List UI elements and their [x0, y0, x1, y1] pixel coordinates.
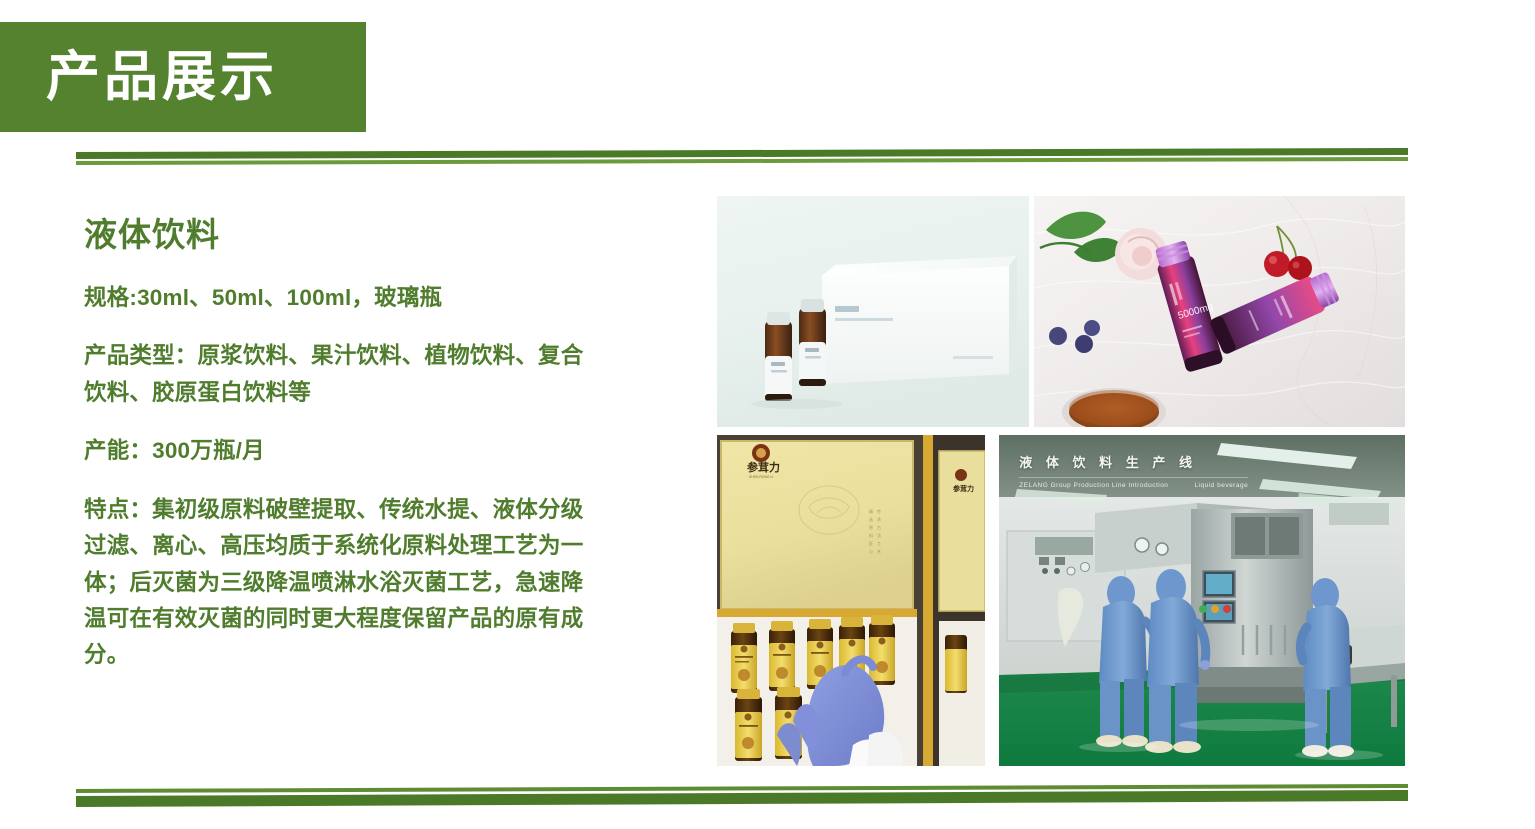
svg-text:古: 古 [877, 524, 881, 530]
photo-production-line: 液 体 饮 料 生 产 线 ZELANG Group Production Li… [999, 435, 1405, 766]
svg-text:心: 心 [869, 548, 873, 554]
svg-text:料: 料 [869, 532, 873, 538]
svg-text:SHEN RONG LI: SHEN RONG LI [749, 475, 773, 479]
svg-text:参茸力: 参茸力 [953, 484, 974, 493]
divider-bottom [76, 784, 1408, 810]
product-category-title: 液体饮料 [84, 216, 584, 254]
svg-text:工: 工 [877, 541, 881, 546]
svg-text:传: 传 [877, 508, 881, 514]
svg-text:艺: 艺 [877, 549, 881, 554]
spec-specification: 规格:30ml、50ml、100ml，玻璃瓶 [84, 280, 584, 316]
product-photo-grid: 5000mg [717, 196, 1405, 766]
photo-product-box-with-bottles [717, 196, 1029, 427]
header-band: 产品展示 [0, 22, 366, 132]
svg-text:精: 精 [869, 508, 873, 514]
svg-text:匠: 匠 [869, 541, 873, 546]
photo-collagen-drink-bottles: 5000mg [1034, 196, 1405, 427]
svg-text:法: 法 [877, 532, 881, 538]
page-title: 产品展示 [0, 50, 278, 104]
spec-product-types: 产品类型：原浆饮料、果汁饮料、植物饮料、复合饮料、胶原蛋白饮料等 [84, 338, 584, 411]
spec-features: 特点：集初级原料破壁提取、传统水提、液体分级过滤、离心、高压均质于系统化原料处理… [84, 492, 584, 674]
svg-text:选: 选 [869, 516, 873, 522]
svg-text:原: 原 [869, 525, 873, 530]
svg-text:承: 承 [877, 516, 881, 522]
photo-gift-box-packing: 参茸力 SHEN RONG LI 精选原 料匠心 传承古 法工艺 [717, 435, 985, 766]
svg-text:参茸力: 参茸力 [747, 460, 780, 474]
product-info-block: 液体饮料 规格:30ml、50ml、100ml，玻璃瓶 产品类型：原浆饮料、果汁… [84, 216, 584, 674]
spec-capacity: 产能：300万瓶/月 [84, 433, 584, 469]
divider-top [76, 148, 1408, 168]
